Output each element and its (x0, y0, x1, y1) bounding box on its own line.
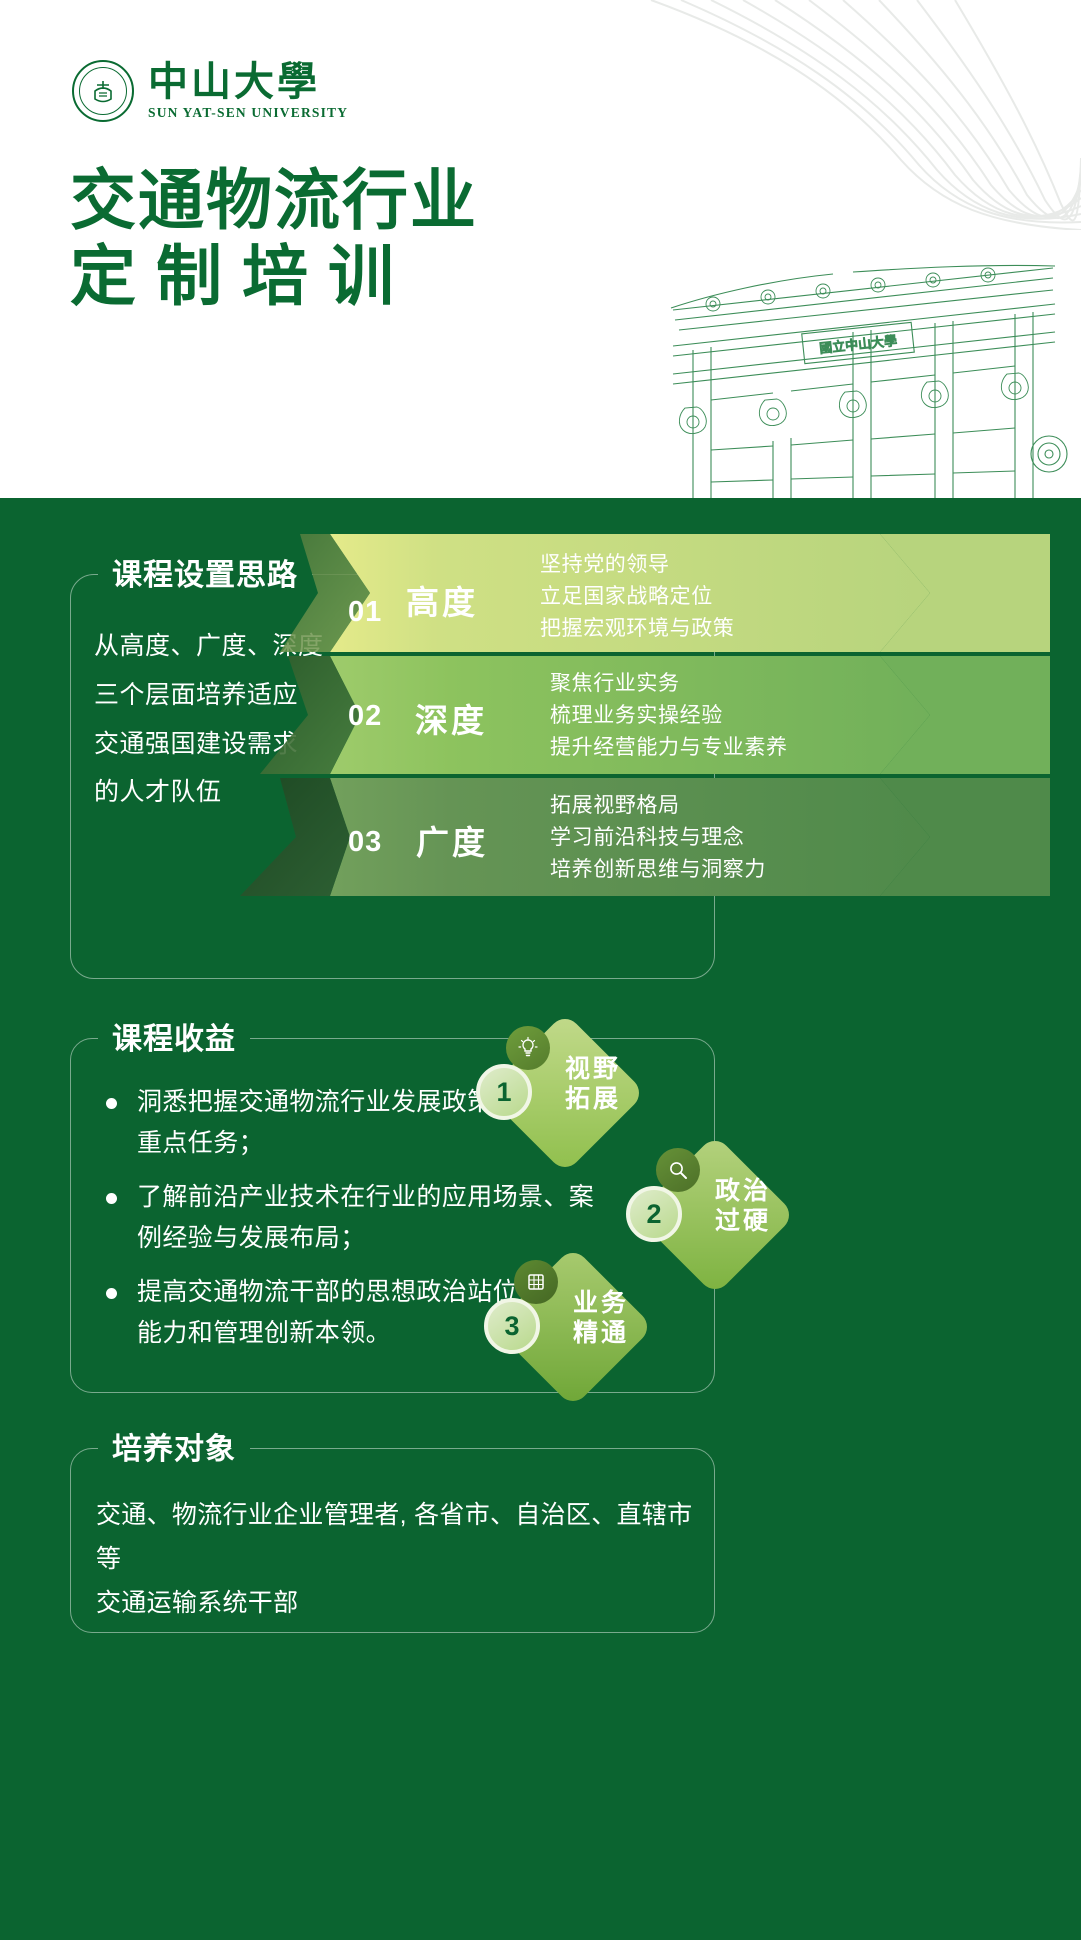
badge-1-label: 视野 拓展 (546, 1054, 640, 1114)
poster-body: 课程设置思路 从高度、广度、深度 三个层面培养适应 交通强国建设需求 的人才队伍 (0, 498, 1081, 1940)
tier-point: 聚焦行业实务 (550, 668, 788, 700)
target-line: 交通、物流行业企业管理者, 各省市、自治区、直辖市等 (96, 1494, 696, 1582)
sun-yat-sen-university-gate-illustration: 國立中山大學 (653, 250, 1073, 500)
badge-business-proficiency: 3 业务 精通 (498, 1252, 648, 1402)
badge-1-number: 1 (476, 1064, 532, 1120)
pyramid-tier-3: 03 广度 拓展视野格局 学习前沿科技与理念 培养创新思维与洞察力 (160, 778, 1050, 896)
title-line-1: 交通物流行业 (70, 165, 478, 236)
tier-3-label: 广度 (416, 816, 488, 864)
target-line: 交通运输系统干部 (96, 1582, 696, 1626)
lightbulb-icon (506, 1026, 550, 1070)
poster-header: 國立中山大學 (0, 0, 1081, 500)
badge-2-number: 2 (626, 1186, 682, 1242)
pyramid-tier-1: 01 高度 坚持党的领导 立足国家战略定位 把握宏观环境与政策 (240, 534, 1050, 652)
badge-1-label-line-1: 视野 (546, 1054, 640, 1084)
badge-3-label: 业务 精通 (554, 1288, 648, 1348)
section-title-benefits: 课程收益 (98, 1014, 250, 1058)
badge-3-number: 3 (484, 1298, 540, 1354)
section-target-audience: 培养对象 交通、物流行业企业管理者, 各省市、自治区、直辖市等 交通运输系统干部 (70, 1448, 715, 1633)
badge-2-label-line-2: 过硬 (696, 1206, 790, 1236)
logo-chinese-name: 中山大學 (148, 61, 348, 103)
tier-point: 拓展视野格局 (550, 790, 766, 822)
decorative-swirl-lines (561, 0, 1081, 230)
tier-point: 梳理业务实操经验 (550, 700, 788, 732)
logo-english-name: SUN YAT-SEN UNIVERSITY (148, 105, 348, 121)
benefit-badges: 1 视野 拓展 2 政治 过硬 (490, 1018, 830, 1398)
tier-1-label: 高度 (406, 576, 478, 624)
pyramid-tier-2: 02 深度 聚焦行业实务 梳理业务实操经验 提升经营能力与专业素养 (200, 656, 1050, 774)
badge-political-integrity: 2 政治 过硬 (640, 1140, 790, 1290)
tier-1-number: 01 (348, 596, 382, 629)
title-line-2: 定制培训 (70, 236, 478, 319)
tier-2-points: 聚焦行业实务 梳理业务实操经验 提升经营能力与专业素养 (550, 668, 788, 764)
tier-1-points: 坚持党的领导 立足国家战略定位 把握宏观环境与政策 (540, 549, 734, 645)
tier-point: 提升经营能力与专业素养 (550, 732, 788, 764)
bullet-dot-icon (106, 1193, 117, 1204)
tier-point: 学习前沿科技与理念 (550, 822, 766, 854)
badge-1-label-line-2: 拓展 (546, 1084, 640, 1114)
university-logo: 中山大學 SUN YAT-SEN UNIVERSITY (72, 60, 348, 122)
tier-2-label: 深度 (415, 694, 487, 742)
badge-vision-expansion: 1 视野 拓展 (490, 1018, 640, 1168)
badge-3-label-line-1: 业务 (554, 1288, 648, 1318)
university-seal-icon (72, 60, 134, 122)
bullet-dot-icon (106, 1288, 117, 1299)
badge-2-label-line-1: 政治 (696, 1176, 790, 1206)
magnifier-icon (656, 1148, 700, 1192)
tier-point: 培养创新思维与洞察力 (550, 854, 766, 886)
tier-point: 把握宏观环境与政策 (540, 613, 734, 645)
tier-3-points: 拓展视野格局 学习前沿科技与理念 培养创新思维与洞察力 (550, 790, 766, 886)
badge-3-label-line-2: 精通 (554, 1318, 648, 1348)
tier-2-number: 02 (348, 700, 382, 733)
section-title-target: 培养对象 (98, 1424, 250, 1468)
grid-icon (514, 1260, 558, 1304)
page-title: 交通物流行业 定制培训 (70, 165, 478, 319)
tier-point: 立足国家战略定位 (540, 581, 734, 613)
tier-point: 坚持党的领导 (540, 549, 734, 581)
target-audience-text: 交通、物流行业企业管理者, 各省市、自治区、直辖市等 交通运输系统干部 (96, 1494, 696, 1625)
badge-2-label: 政治 过硬 (696, 1176, 790, 1236)
tier-3-number: 03 (348, 826, 382, 859)
three-tier-pyramid: 01 高度 坚持党的领导 立足国家战略定位 把握宏观环境与政策 (240, 516, 1050, 886)
bullet-dot-icon (106, 1098, 117, 1109)
